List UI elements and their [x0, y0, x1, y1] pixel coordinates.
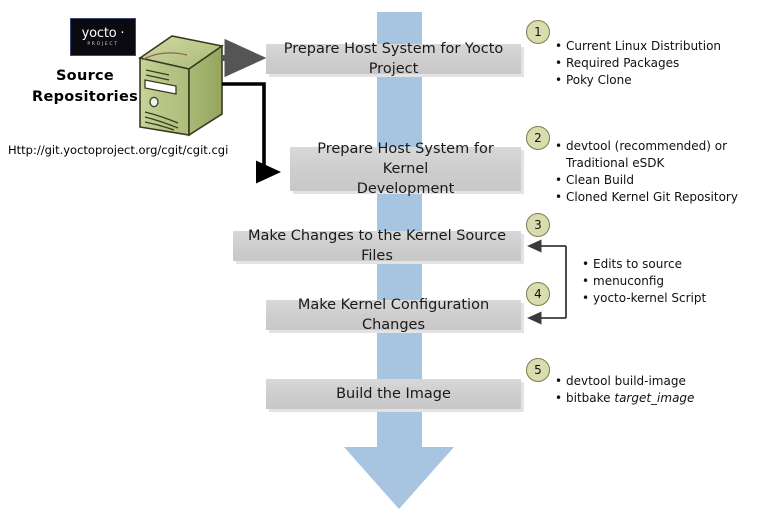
step-badge-5: 5	[526, 358, 550, 382]
process-box-step5[interactable]: Build the Image	[266, 379, 521, 409]
note-line-italic: target_image	[614, 391, 694, 405]
diagram-canvas: yocto · PROJECT Source Repositories Http…	[0, 0, 769, 517]
step-badge-4: 4	[526, 282, 550, 306]
process-box-step3[interactable]: Make Changes to the Kernel Source Files	[233, 231, 521, 261]
notes-step2: devtool (recommended) or Traditional eSD…	[553, 138, 738, 206]
process-box-step2-line2: Development	[298, 179, 513, 199]
step-badge-3: 3	[526, 213, 550, 237]
process-box-step1[interactable]: Prepare Host System for Yocto Project	[266, 44, 521, 74]
note-item: Required Packages	[566, 55, 721, 72]
note-item: Current Linux Distribution	[566, 38, 721, 55]
notes-step5: devtool build-image bitbake target_image	[553, 373, 694, 407]
arrow-server-to-step2	[222, 84, 276, 172]
process-box-step2-line1: Prepare Host System for Kernel	[298, 139, 513, 179]
process-box-step4[interactable]: Make Kernel Configuration Changes	[266, 300, 521, 330]
note-line: devtool (recommended) or	[566, 138, 738, 155]
step-badge-1: 1	[526, 20, 550, 44]
note-line-prefix: bitbake	[566, 391, 614, 405]
notes-steps-3-4: Edits to source menuconfig yocto-kernel …	[580, 256, 706, 307]
note-item: devtool build-image	[566, 373, 694, 390]
note-item: Poky Clone	[566, 72, 721, 89]
step-badge-2: 2	[526, 126, 550, 150]
note-item: yocto-kernel Script	[593, 290, 706, 307]
note-item: menuconfig	[593, 273, 706, 290]
notes-step1: Current Linux Distribution Required Pack…	[553, 38, 721, 89]
note-item: Cloned Kernel Git Repository	[566, 189, 738, 206]
note-line: Traditional eSDK	[566, 155, 738, 172]
note-item: devtool (recommended) or Traditional eSD…	[566, 138, 738, 172]
note-item: bitbake target_image	[566, 390, 694, 407]
note-item: Edits to source	[593, 256, 706, 273]
note-item: Clean Build	[566, 172, 738, 189]
process-box-step2[interactable]: Prepare Host System for Kernel Developme…	[290, 147, 521, 191]
